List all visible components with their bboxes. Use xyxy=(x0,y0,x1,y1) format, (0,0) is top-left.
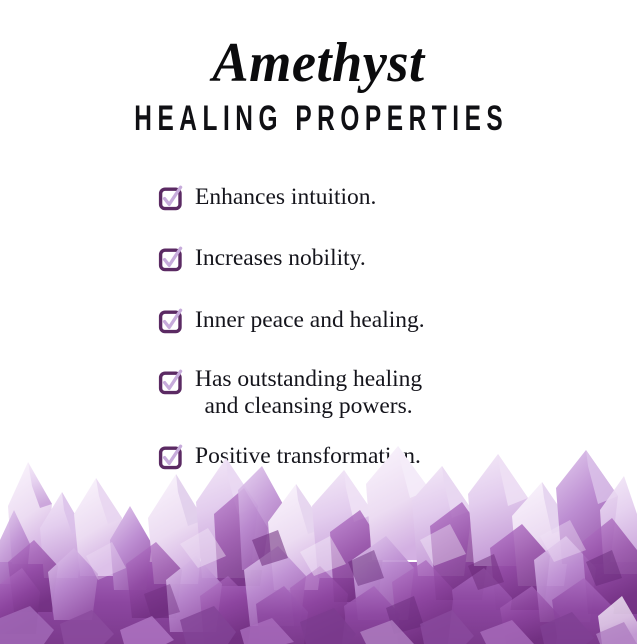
amethyst-crystal-cluster-image xyxy=(0,444,637,644)
healing-properties-list: Enhances intuition. Increases nobility. … xyxy=(158,182,588,471)
page-title: Amethyst xyxy=(10,0,628,93)
list-item-label: Enhances intuition. xyxy=(195,182,376,211)
checkbox-checked-icon xyxy=(158,185,184,211)
checkbox-checked-icon xyxy=(158,369,184,395)
poster-header: Amethyst HEALING PROPERTIES xyxy=(0,0,637,135)
list-item: Increases nobility. xyxy=(158,243,588,272)
list-item-label: Has outstanding healing and cleansing po… xyxy=(195,366,422,420)
list-item: Enhances intuition. xyxy=(158,182,588,211)
crystal-cluster-illustration xyxy=(0,444,637,644)
list-item: Inner peace and healing. xyxy=(158,305,588,334)
list-item-label: Inner peace and healing. xyxy=(195,305,425,334)
amethyst-healing-properties-poster: Amethyst HEALING PROPERTIES Enhances int… xyxy=(0,0,637,644)
checkbox-checked-icon xyxy=(158,308,184,334)
checkbox-checked-icon xyxy=(158,246,184,272)
list-item-label: Increases nobility. xyxy=(195,243,366,272)
list-item: Has outstanding healing and cleansing po… xyxy=(158,366,588,420)
page-subtitle: HEALING PROPERTIES xyxy=(83,93,554,138)
